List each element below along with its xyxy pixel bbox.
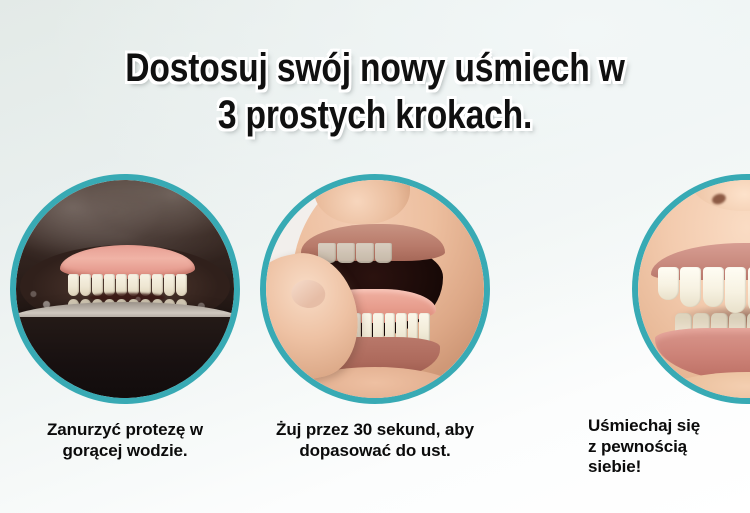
photo-circle-fitting-denture-in-mouth bbox=[260, 174, 490, 404]
step-2-caption: Żuj przez 30 sekund, aby dopasować do us… bbox=[250, 420, 500, 461]
step-1-caption: Zanurzyć protezę w gorącej wodzie. bbox=[0, 420, 250, 461]
pot-scene bbox=[16, 180, 234, 398]
step-2-image-wrap bbox=[260, 174, 490, 404]
step-3: Uśmiechaj się z pewnością siebie! bbox=[500, 172, 750, 512]
poster-root: Dostosuj swój nowy uśmiech w 3 prostych … bbox=[0, 0, 750, 513]
tooth bbox=[658, 267, 679, 300]
tooth bbox=[356, 243, 374, 263]
smile-scene bbox=[638, 180, 750, 398]
tooth bbox=[703, 267, 724, 307]
step-1: Zanurzyć protezę w gorącej wodzie. bbox=[0, 172, 250, 512]
page-title: Dostosuj swój nowy uśmiech w 3 prostych … bbox=[0, 48, 750, 136]
natural-upper-teeth bbox=[318, 243, 392, 263]
step-2-caption-line-2: dopasować do ust. bbox=[250, 441, 500, 462]
tooth bbox=[375, 243, 393, 263]
step-1-image-wrap bbox=[10, 174, 240, 404]
step-3-caption-line-1: Uśmiechaj się bbox=[588, 416, 750, 437]
pot-body bbox=[16, 317, 234, 398]
headline-line-1: Dostosuj swój nowy uśmiech w bbox=[60, 48, 690, 89]
step-1-caption-line-1: Zanurzyć protezę w bbox=[0, 420, 250, 441]
photo-inner-1 bbox=[16, 180, 234, 398]
fingernail bbox=[290, 278, 327, 309]
step-3-image-wrap bbox=[632, 174, 750, 404]
upper-teeth bbox=[658, 267, 750, 313]
step-2: Żuj przez 30 sekund, aby dopasować do us… bbox=[250, 172, 500, 512]
photo-inner-2 bbox=[266, 180, 484, 398]
steps-row: Zanurzyć protezę w gorącej wodzie. bbox=[0, 172, 750, 512]
step-1-caption-line-2: gorącej wodzie. bbox=[0, 441, 250, 462]
step-3-caption-line-2: z pewnością bbox=[588, 437, 750, 458]
photo-inner-3 bbox=[638, 180, 750, 398]
mouth-scene bbox=[266, 180, 484, 398]
nostril-left bbox=[711, 192, 728, 206]
tooth bbox=[680, 267, 701, 307]
photo-circle-confident-smile bbox=[632, 174, 750, 404]
step-3-caption-line-3: siebie! bbox=[588, 457, 750, 478]
headline-line-2: 3 prostych krokach. bbox=[60, 95, 690, 136]
tooth bbox=[337, 243, 355, 263]
tooth bbox=[725, 267, 746, 313]
photo-circle-denture-in-boiling-pot bbox=[10, 174, 240, 404]
step-3-caption: Uśmiechaj się z pewnością siebie! bbox=[500, 416, 750, 478]
step-2-caption-line-1: Żuj przez 30 sekund, aby bbox=[250, 420, 500, 441]
